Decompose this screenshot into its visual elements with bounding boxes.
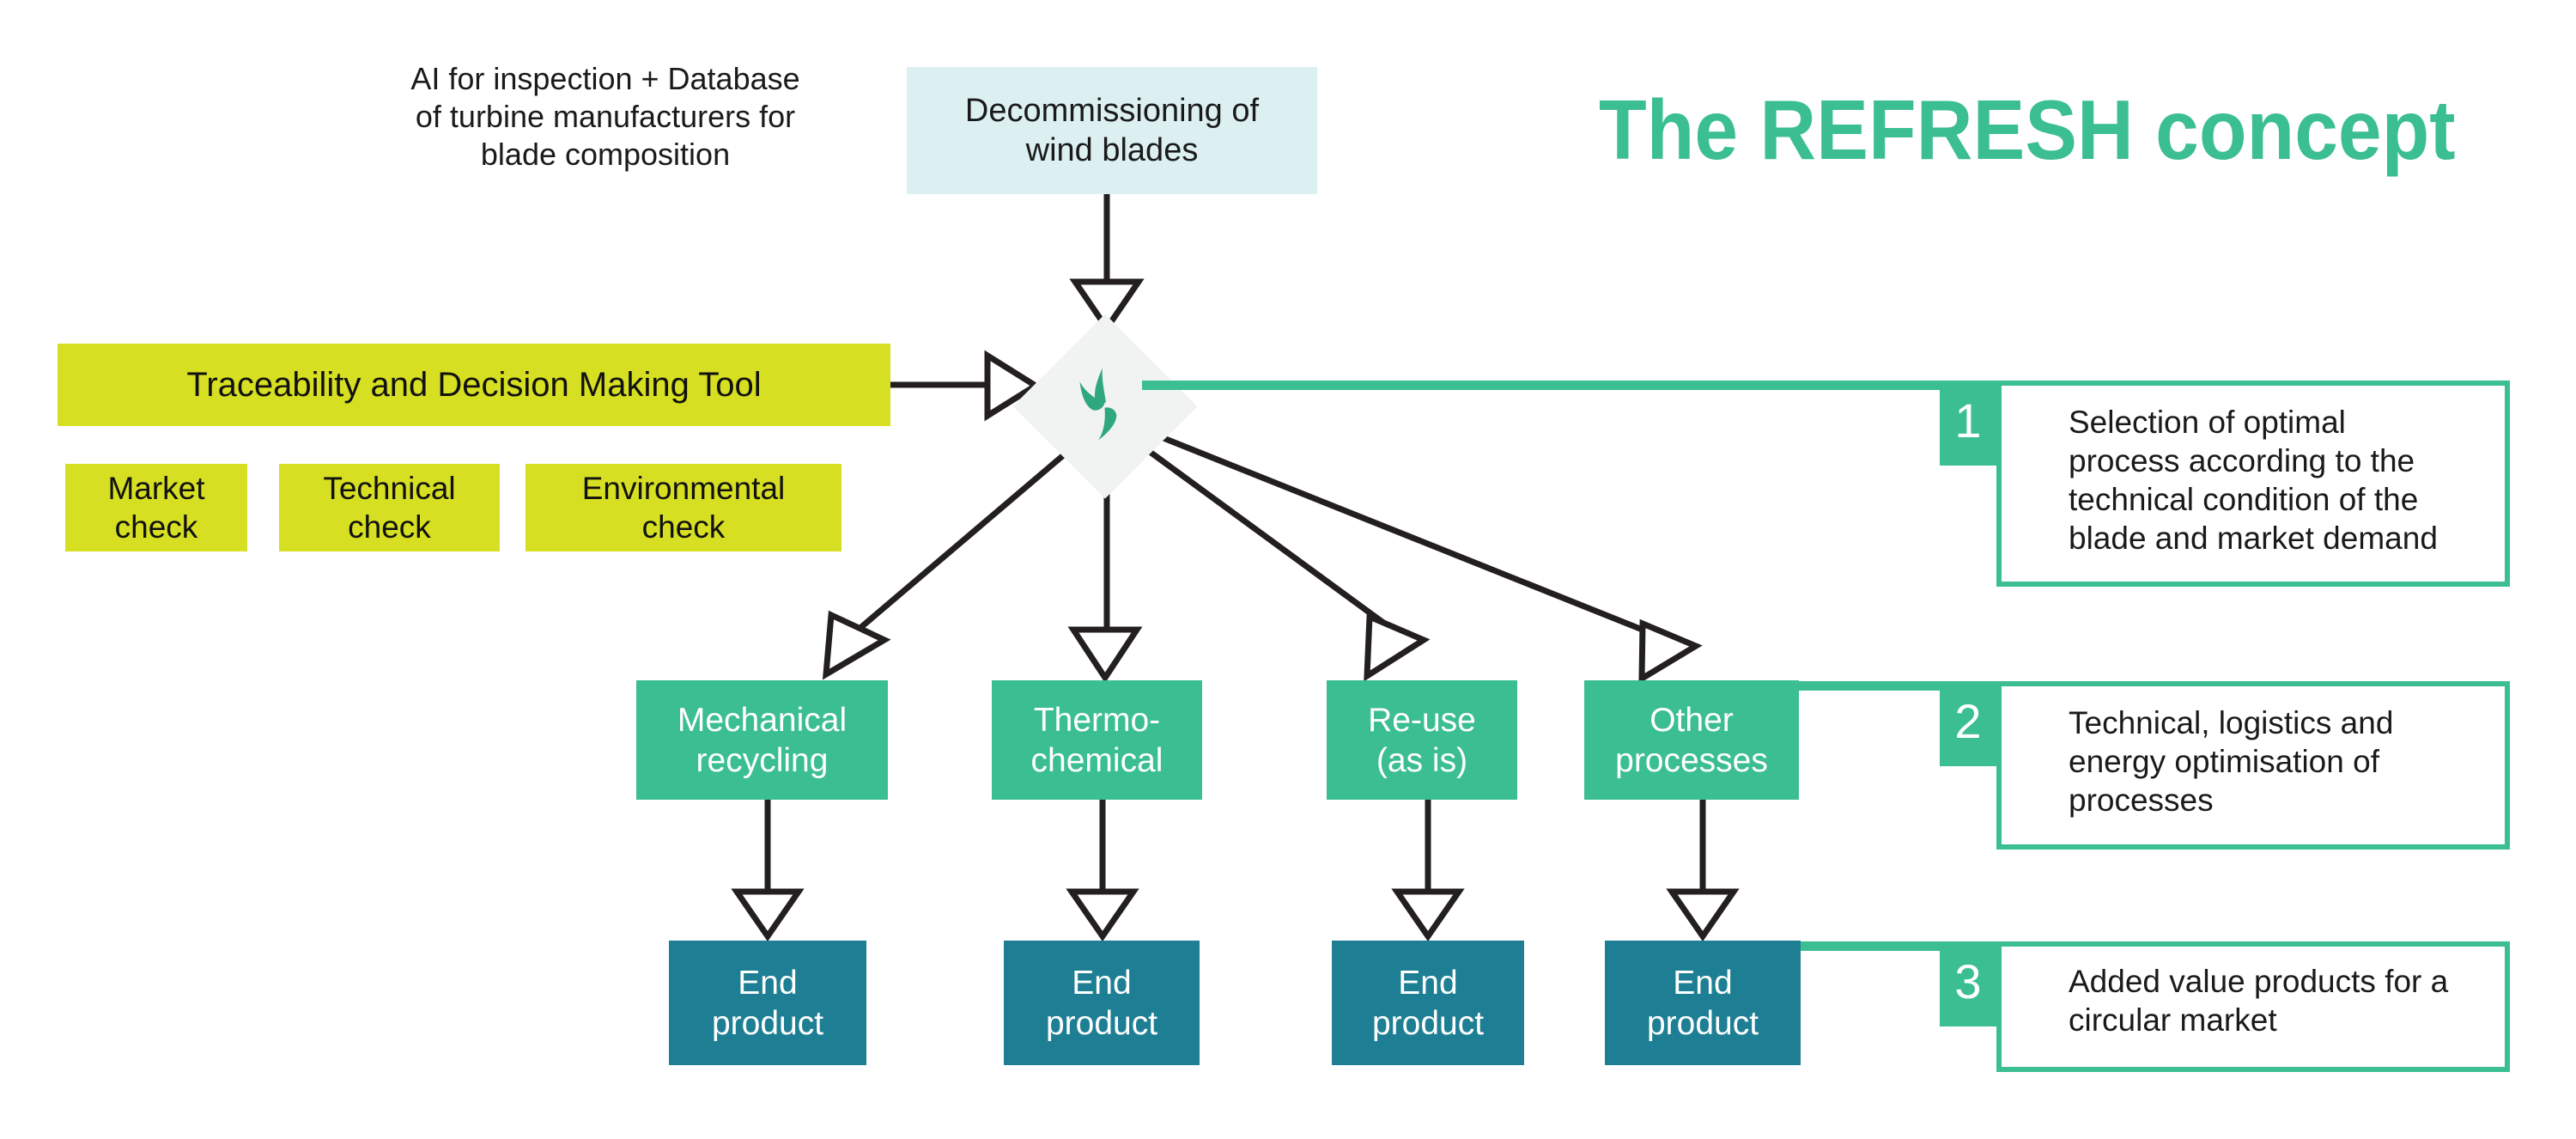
process-box-mechanical-recycling: Mechanical recycling <box>636 680 888 800</box>
decommissioning-box: Decommissioning of wind blades <box>907 67 1317 194</box>
process-box-thermo-chemical: Thermo- chemical <box>992 680 1202 800</box>
callout-2-number: 2 <box>1940 684 1996 766</box>
process-box-other-processes: Other processes <box>1584 680 1799 800</box>
check-box-market: Market check <box>65 464 247 551</box>
callout-2-text: Technical, logistics and energy optimisa… <box>2069 703 2498 819</box>
end-product-box-4: End product <box>1605 941 1801 1065</box>
check-box-environmental: Environmental check <box>526 464 841 551</box>
end-product-box-2: End product <box>1004 941 1200 1065</box>
callout-3-text: Added value products for a circular mark… <box>2069 962 2506 1039</box>
callout-3-box: Added value products for a circular mark… <box>1996 941 2510 1072</box>
check-box-technical: Technical check <box>279 464 500 551</box>
arrowhead-other-to-endproduct <box>1672 892 1734 936</box>
arrowhead-hub-to-other <box>1642 624 1696 679</box>
arrowhead-reuse-to-endproduct <box>1397 892 1459 936</box>
arrowhead-hub-to-reuse <box>1367 617 1424 676</box>
arrowhead-thermochemical-to-endproduct <box>1072 892 1133 936</box>
traceability-decision-tool-box: Traceability and Decision Making Tool <box>58 344 890 426</box>
ai-database-annotation: AI for inspection + Database of turbine … <box>343 60 867 174</box>
arrowhead-hub-to-mechanical <box>826 615 884 674</box>
arrow-shaft-hub-to-reuse <box>1133 440 1389 627</box>
end-product-box-3: End product <box>1332 941 1524 1065</box>
wind-turbine-icon <box>1061 361 1151 450</box>
end-product-box-1: End product <box>669 941 866 1065</box>
arrow-shaft-hub-to-other <box>1142 429 1657 636</box>
page-title: The REFRESH concept <box>1599 82 2477 177</box>
arrowhead-hub-to-thermochemical <box>1073 630 1137 678</box>
callout-3-number: 3 <box>1940 944 1996 1026</box>
callout-2-box: Technical, logistics and energy optimisa… <box>1996 681 2510 850</box>
callout-1-number: 1 <box>1940 383 1996 466</box>
refresh-concept-diagram: The REFRESH concept AI for inspection + … <box>0 0 2576 1139</box>
arrow-shaft-hub-to-mechanical <box>861 438 1084 627</box>
process-box-reuse: Re-use (as is) <box>1327 680 1517 800</box>
callout-1-box: Selection of optimal process according t… <box>1996 381 2510 587</box>
callout-1-text: Selection of optimal process according t… <box>2069 403 2498 557</box>
arrowhead-mechanical-to-endproduct <box>737 892 799 936</box>
